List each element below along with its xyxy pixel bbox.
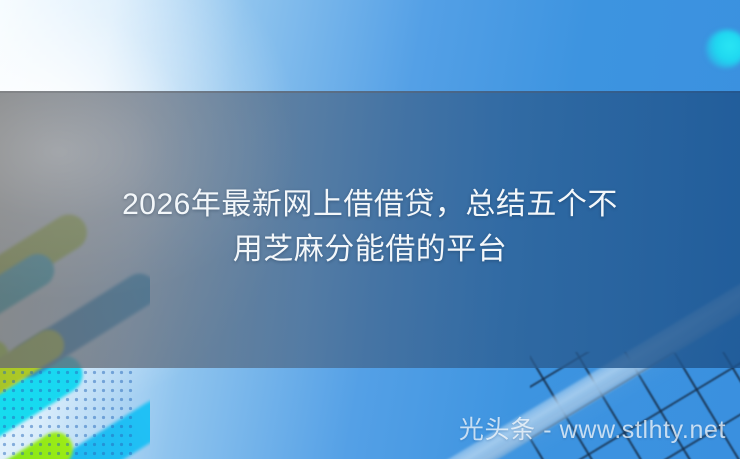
cyan-blob-icon [706,30,740,68]
site-watermark: 光头条 - www.stlhty.net [459,415,726,445]
title-line-2: 用芝麻分能借的平台 [18,227,722,272]
overlay-band-top-edge [0,91,740,93]
bar-lime-bright [0,426,79,459]
page-title: 2026年最新网上借借贷，总结五个不 用芝麻分能借的平台 [0,182,740,272]
title-line-1: 2026年最新网上借借贷，总结五个不 [18,182,722,227]
article-cover-image: 2026年最新网上借借贷，总结五个不 用芝麻分能借的平台 光头条 - www.s… [0,0,740,459]
